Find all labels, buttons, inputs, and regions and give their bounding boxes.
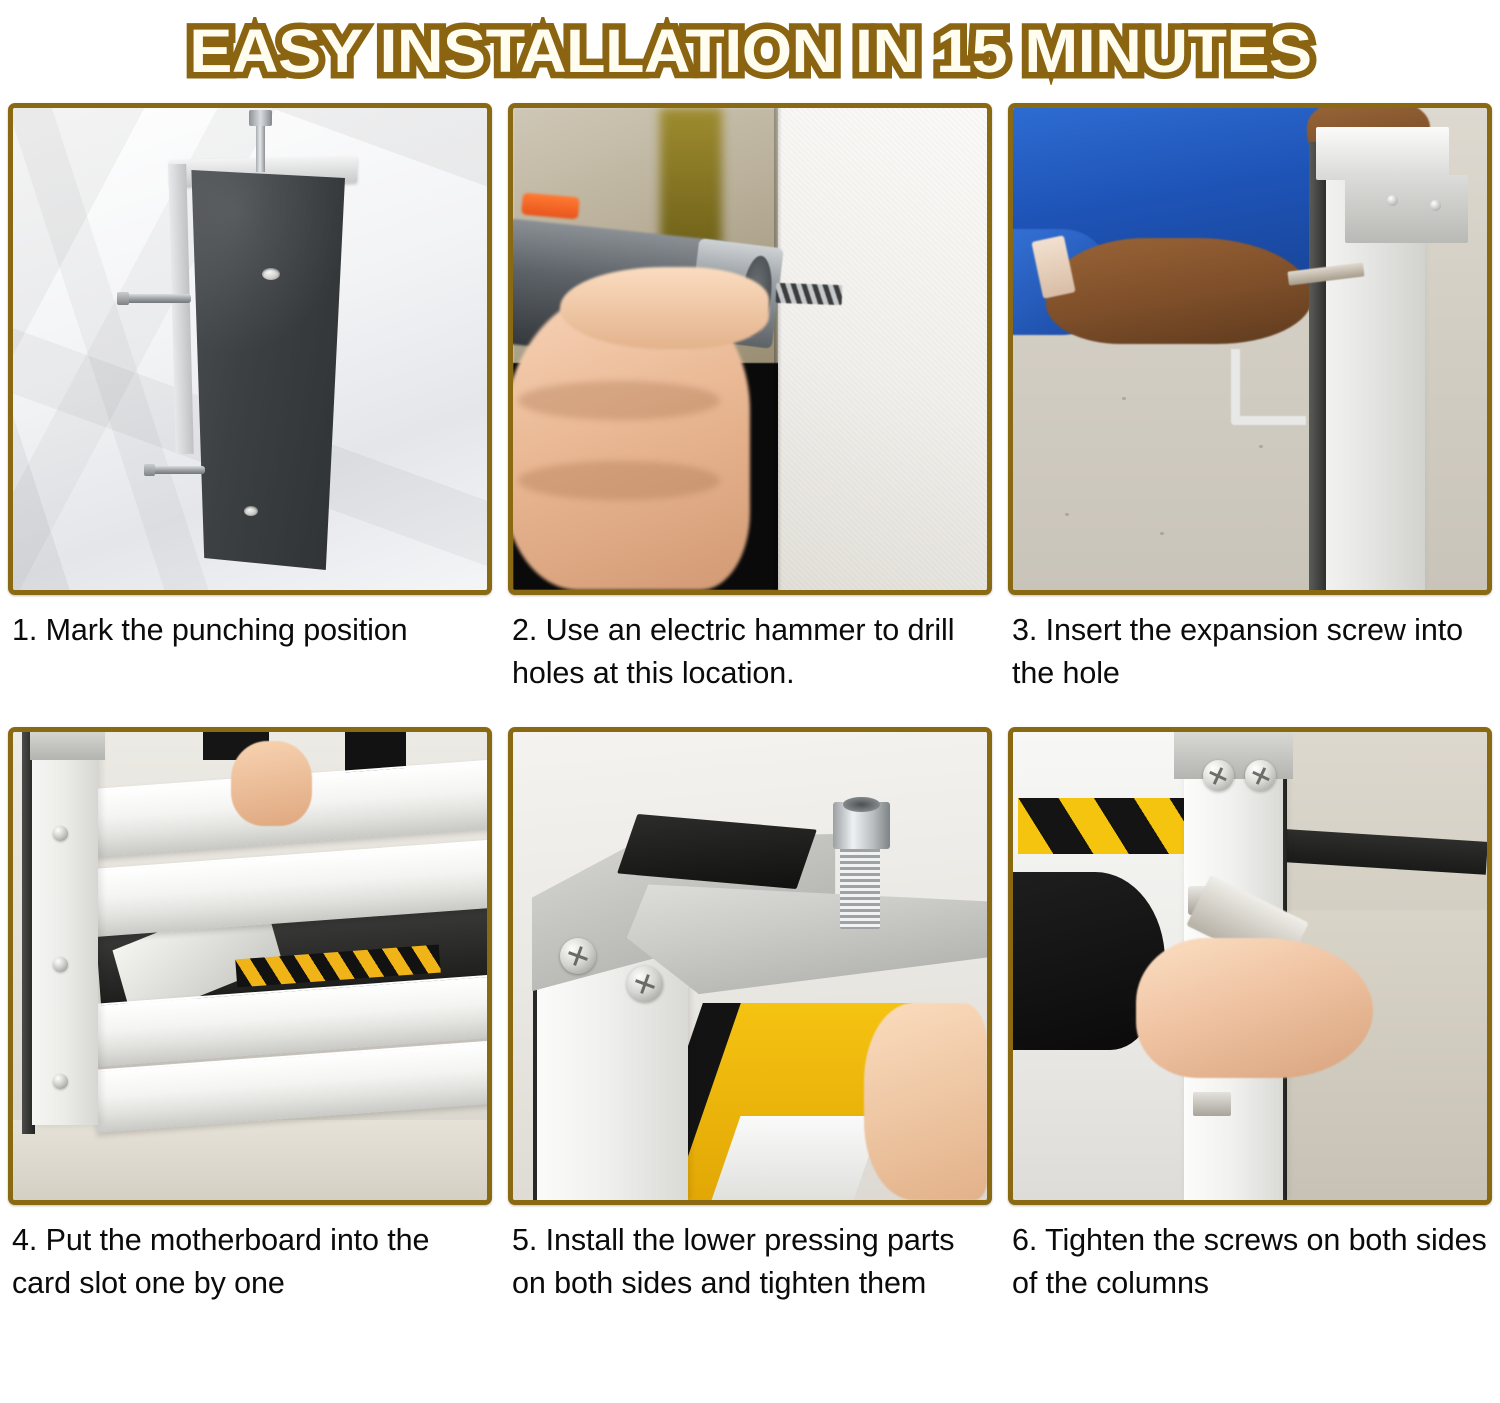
step-cell-2: 2. Use an electric hammer to drill holes… xyxy=(500,103,1000,727)
step-3-photo-frame xyxy=(1008,103,1492,595)
header-banner: EASY INSTALLATION IN 15 MINUTES xyxy=(0,0,1500,103)
installation-steps-grid: 1. Mark the punching position 2. Use an … xyxy=(0,103,1500,1359)
post-screw xyxy=(53,826,68,841)
page-title: EASY INSTALLATION IN 15 MINUTES xyxy=(189,21,1311,82)
plate-bolt xyxy=(1430,200,1441,211)
step-cell-1: 1. Mark the punching position xyxy=(0,103,500,727)
hex-key-on-floor xyxy=(1231,349,1306,425)
column-screw xyxy=(1203,760,1234,791)
threaded-bolt-shaft xyxy=(840,840,880,929)
upper-protruding-screw xyxy=(123,294,191,303)
installer-finger xyxy=(864,1003,987,1200)
step-5-photo-install-pressing-parts xyxy=(513,732,987,1200)
philips-screw xyxy=(627,966,663,1002)
lower-bolt xyxy=(1193,1092,1231,1115)
bolt-head xyxy=(833,802,890,849)
hazard-stripe-tape xyxy=(1018,798,1189,854)
worker-arm xyxy=(1046,238,1311,344)
step-5-caption: 5. Install the lower pressing parts on b… xyxy=(508,1205,992,1359)
installer-hand xyxy=(231,741,312,825)
step-3-caption: 3. Insert the expansion screw into the h… xyxy=(1008,595,1492,727)
step-1-photo-frame xyxy=(8,103,492,595)
step-cell-3: 3. Insert the expansion screw into the h… xyxy=(1000,103,1500,727)
step-6-photo-frame xyxy=(1008,727,1492,1205)
post-screw xyxy=(53,1074,68,1089)
post-top-cap xyxy=(30,732,106,760)
lower-white-board xyxy=(712,1116,883,1200)
column-mounting-plate xyxy=(1345,175,1468,242)
dark-metal-bracket xyxy=(185,170,345,570)
step-6-photo-tighten-screws xyxy=(1013,732,1487,1200)
top-bolt-head xyxy=(249,110,272,126)
operator-index-finger xyxy=(560,267,769,349)
step-2-photo-drill-holes xyxy=(513,108,987,590)
drill-bit xyxy=(776,283,843,306)
post-screw xyxy=(53,957,68,972)
step-cell-6: 6. Tighten the screws on both sides of t… xyxy=(1000,727,1500,1359)
upper-mounting-hole xyxy=(262,268,280,280)
step-4-photo-insert-motherboard xyxy=(13,732,487,1200)
step-6-caption: 6. Tighten the screws on both sides of t… xyxy=(1008,1205,1492,1359)
white-column-post xyxy=(32,732,98,1125)
step-3-photo-insert-expansion-screw xyxy=(1013,108,1487,590)
step-4-caption: 4. Put the motherboard into the card slo… xyxy=(8,1205,492,1359)
background-bottle xyxy=(660,108,722,253)
floor-speck xyxy=(1065,513,1069,516)
installer-hand xyxy=(1136,938,1373,1078)
step-1-photo-mark-punching-position xyxy=(13,108,487,590)
step-4-photo-frame xyxy=(8,727,492,1205)
drill-trigger-orange-accent xyxy=(522,192,581,219)
floor-surface xyxy=(13,1120,487,1200)
step-1-caption: 1. Mark the punching position xyxy=(8,595,492,727)
column-top-cap xyxy=(1316,127,1449,180)
step-2-photo-frame xyxy=(508,103,992,595)
lower-protruding-screw xyxy=(149,466,205,474)
step-2-caption: 2. Use an electric hammer to drill holes… xyxy=(508,595,992,727)
step-5-photo-frame xyxy=(508,727,992,1205)
step-cell-5: 5. Install the lower pressing parts on b… xyxy=(500,727,1000,1359)
step-cell-4: 4. Put the motherboard into the card slo… xyxy=(0,727,500,1359)
lower-mounting-hole xyxy=(244,506,258,516)
white-wall-surface xyxy=(778,108,987,590)
